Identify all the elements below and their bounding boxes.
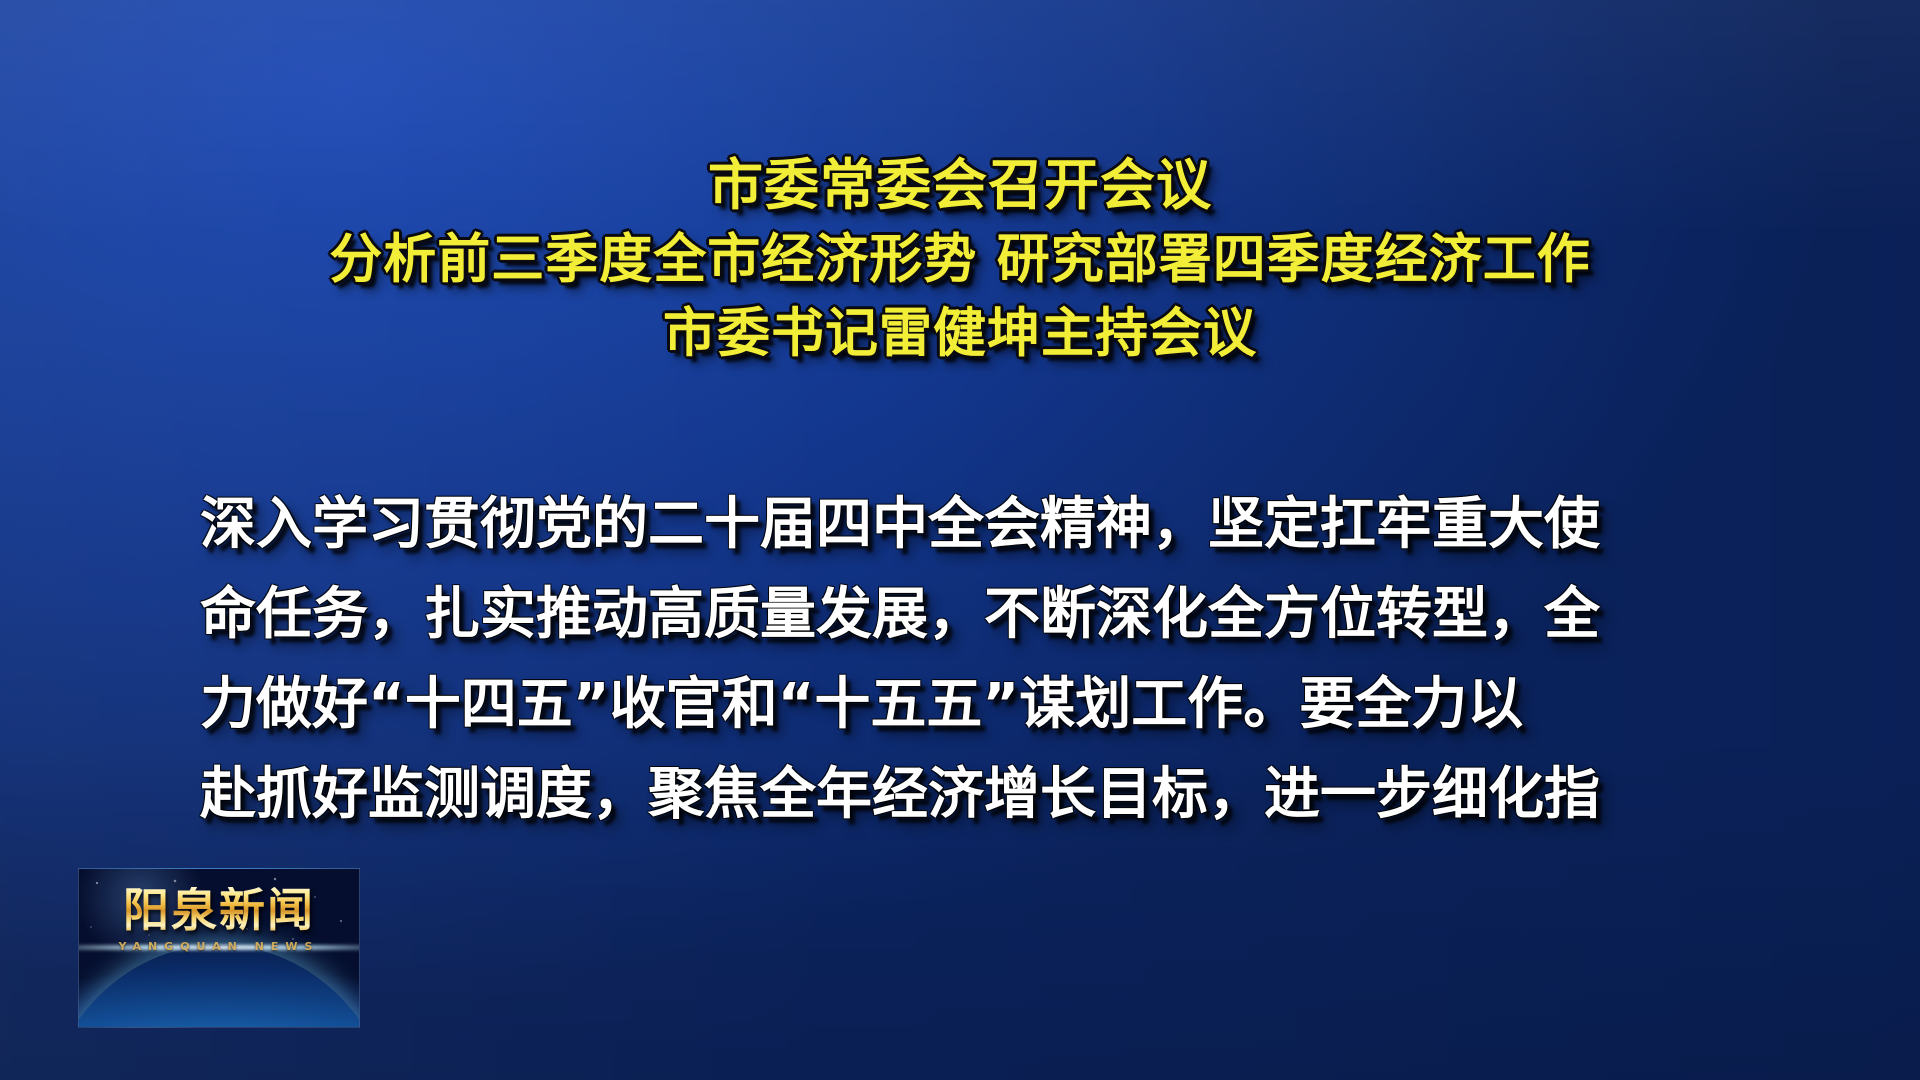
station-logo-text: 阳泉新闻 YANGQUAN NEWS xyxy=(79,887,359,953)
body-line: 力做好“十四五”收官和“十五五”谋划工作。要全力以 xyxy=(200,660,1730,750)
news-body-text: 深入学习贯彻党的二十届四中全会精神，坚定扛牢重大使 命任务，扎实推动高质量发展，… xyxy=(200,480,1730,840)
broadcast-screen: 市委常委会召开会议 分析前三季度全市经济形势 研究部署四季度经济工作 市委书记雷… xyxy=(0,0,1920,1080)
headline-line-2: 分析前三季度全市经济形势 研究部署四季度经济工作 xyxy=(0,226,1920,294)
body-line: 命任务，扎实推动高质量发展，不断深化全方位转型，全 xyxy=(200,570,1730,660)
station-logo-subtitle: YANGQUAN NEWS xyxy=(79,940,359,953)
station-logo-bug: 阳泉新闻 YANGQUAN NEWS xyxy=(78,868,360,1028)
body-line: 深入学习贯彻党的二十届四中全会精神，坚定扛牢重大使 xyxy=(200,480,1730,570)
station-logo-title: 阳泉新闻 xyxy=(79,887,359,933)
body-line: 赴抓好监测调度，聚焦全年经济增长目标，进一步细化指 xyxy=(200,750,1730,840)
headline-line-3: 市委书记雷健坤主持会议 xyxy=(0,300,1920,368)
headline-line-1: 市委常委会召开会议 xyxy=(0,150,1920,220)
headline-block: 市委常委会召开会议 分析前三季度全市经济形势 研究部署四季度经济工作 市委书记雷… xyxy=(0,150,1920,368)
